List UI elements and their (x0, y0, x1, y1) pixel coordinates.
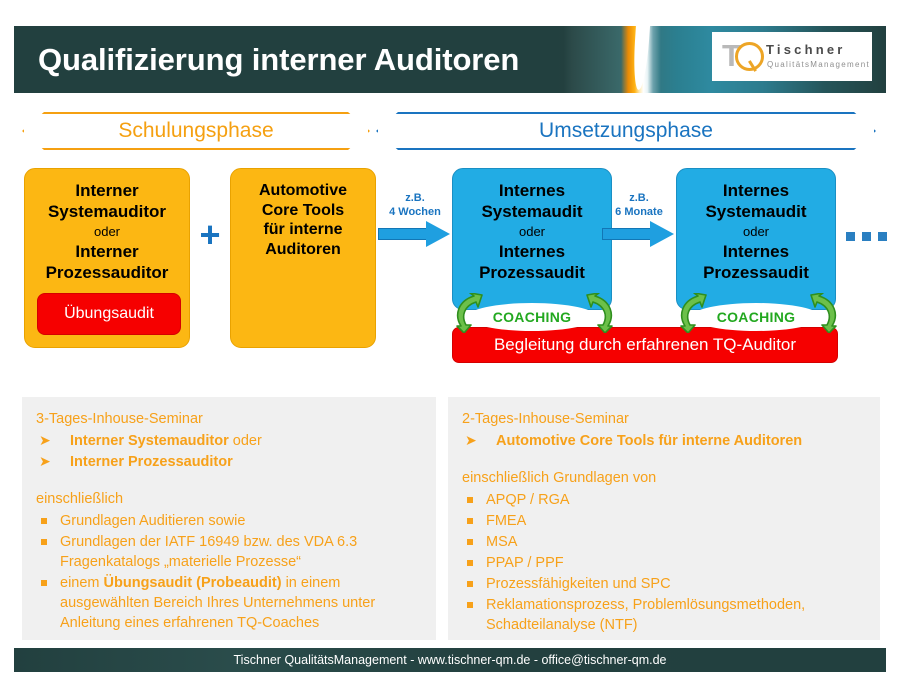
logo-company-subtitle: QualitätsManagement (767, 60, 870, 69)
flow-box-automotive-core-tools: Automotive Core Tools für interne Audito… (230, 168, 376, 348)
tq-monogram-icon: T (722, 36, 764, 76)
flow-box-connector: oder (453, 222, 611, 242)
panel-left-heading: 3-Tages-Inhouse-Seminar (36, 409, 422, 429)
list-item: PPAP / PPF (462, 553, 866, 573)
arrow-bullet-icon: ➤ (39, 431, 51, 450)
panel-left-subheading: einschließlich (36, 489, 422, 509)
coaching-label-2: COACHING (691, 303, 821, 331)
list-item: Grundlagen der IATF 16949 bzw. des VDA 6… (36, 532, 422, 572)
phase-banner-umsetzungsphase: Umsetzungsphase (376, 112, 876, 150)
flow-box-line4: Prozessaudit (453, 263, 611, 284)
arrow-bullet-icon: ➤ (465, 431, 477, 450)
badge-uebungsaudit: Übungsaudit (37, 293, 181, 335)
flow-box-line2: Systemauditor (25, 202, 189, 223)
square-bullet-icon (467, 539, 473, 545)
panel-left-arrow-list: ➤Interner Systemauditor oder ➤Interner P… (36, 431, 422, 472)
item-text: FMEA (486, 513, 526, 529)
list-item: FMEA (462, 511, 866, 531)
item-pre: einem (60, 575, 104, 591)
list-item: MSA (462, 532, 866, 552)
flow-box-interner-auditor: Interner Systemauditor oder Interner Pro… (24, 168, 190, 348)
square-bullet-icon (41, 580, 47, 586)
coaching-cycle-arrow-icon (583, 293, 617, 333)
square-bullet-icon (41, 518, 47, 524)
panel-right-subheading: einschließlich Grundlagen von (462, 468, 866, 488)
item-text: PPAP / PPF (486, 555, 564, 571)
logo-letter-q-ring (735, 42, 764, 71)
list-item: ➤Interner Systemauditor oder (36, 431, 422, 451)
arrow-bullet-icon: ➤ (39, 452, 51, 471)
arrow-label-line1: z.B. (375, 192, 455, 206)
list-item: Prozessfähigkeiten und SPC (462, 574, 866, 594)
item-bold: Übungsaudit (Probeaudit) (104, 575, 282, 591)
item-text: MSA (486, 534, 517, 550)
arrow-head (650, 221, 674, 247)
flow-box-line1: Interner (25, 181, 189, 202)
flow-box-line2: Core Tools (231, 201, 375, 221)
flow-box-line3: Internes (677, 242, 835, 263)
arrow-label-line2: 6 Monate (599, 206, 679, 220)
spacer (462, 452, 866, 468)
panel-left-items: Grundlagen Auditieren sowie Grundlagen d… (36, 511, 422, 633)
ellipsis-dots-icon (846, 232, 887, 241)
panel-right-items: APQP / RGA FMEA MSA PPAP / PPF Prozessfä… (462, 490, 866, 635)
item-bold: Interner Prozessauditor (70, 454, 233, 470)
list-item: Grundlagen Auditieren sowie (36, 511, 422, 531)
company-logo: T Tischner QualitätsManagement (712, 32, 872, 81)
flow-box-internes-audit-1: Internes Systemaudit oder Internes Proze… (452, 168, 612, 310)
arrow-head (426, 221, 450, 247)
item-text: Grundlagen Auditieren sowie (60, 513, 245, 529)
list-item: APQP / RGA (462, 490, 866, 510)
flow-box-connector: oder (677, 222, 835, 242)
decorative-flame-graphic (621, 26, 661, 93)
flow-box-connector: oder (25, 222, 189, 242)
dot (878, 232, 887, 241)
list-item: ➤Automotive Core Tools für interne Audit… (462, 431, 866, 451)
flow-box-line4: Prozessauditor (25, 263, 189, 284)
footer-bar: Tischner QualitätsManagement - www.tisch… (14, 648, 886, 672)
arrow-shaft (378, 228, 428, 240)
plus-icon: + (196, 222, 224, 250)
page-title: Qualifizierung interner Auditoren (38, 26, 519, 93)
flow-box-line1: Automotive (231, 181, 375, 201)
item-text: APQP / RGA (486, 492, 570, 508)
coaching-cycle-arrow-icon (807, 293, 841, 333)
square-bullet-icon (467, 518, 473, 524)
support-bar-tq-auditor: Begleitung durch erfahrenen TQ-Auditor (452, 327, 838, 363)
square-bullet-icon (41, 539, 47, 545)
square-bullet-icon (467, 497, 473, 503)
coaching-cycle-arrow-icon (676, 293, 710, 333)
square-bullet-icon (467, 602, 473, 608)
item-text: Reklamationsprozess, Problemlösungsmetho… (486, 597, 805, 633)
flow-arrow-2-icon (602, 222, 676, 246)
phase-banner-schulungsphase: Schulungsphase (22, 112, 370, 150)
flow-box-line2: Systemaudit (453, 202, 611, 223)
item-rest: oder (229, 433, 262, 449)
list-item: ➤Interner Prozessauditor (36, 452, 422, 472)
flow-arrow-1-icon (378, 222, 452, 246)
item-bold: Interner Systemauditor (70, 433, 229, 449)
flow-box-line1: Internes (453, 181, 611, 202)
item-bold: Automotive Core Tools für interne Audito… (496, 433, 802, 449)
flow-box-line3: für interne (231, 220, 375, 240)
dot (846, 232, 855, 241)
panel-right-heading: 2-Tages-Inhouse-Seminar (462, 409, 866, 429)
flow-box-line3: Interner (25, 242, 189, 263)
flow-box-line4: Prozessaudit (677, 263, 835, 284)
footer-text: Tischner QualitätsManagement - www.tisch… (234, 653, 667, 667)
flow-box-line3: Internes (453, 242, 611, 263)
flow-box-internes-audit-2: Internes Systemaudit oder Internes Proze… (676, 168, 836, 310)
flow-box-line4: Auditoren (231, 240, 375, 260)
dot (862, 232, 871, 241)
arrow-label-6-monate: z.B. 6 Monate (599, 192, 679, 220)
coaching-cycle-arrow-icon (452, 293, 486, 333)
flow-box-line2: Systemaudit (677, 202, 835, 223)
coaching-label-1: COACHING (467, 303, 597, 331)
list-item: Reklamationsprozess, Problemlösungsmetho… (462, 595, 866, 635)
panel-right-arrow-list: ➤Automotive Core Tools für interne Audit… (462, 431, 866, 451)
arrow-label-line1: z.B. (599, 192, 679, 206)
item-text: Prozessfähigkeiten und SPC (486, 576, 671, 592)
arrow-shaft (602, 228, 652, 240)
phase-label-umsetzungsphase: Umsetzungsphase (539, 119, 713, 143)
list-item: einem Übungsaudit (Probeaudit) in einem … (36, 573, 422, 633)
item-text: Grundlagen der IATF 16949 bzw. des VDA 6… (60, 534, 357, 570)
square-bullet-icon (467, 560, 473, 566)
spacer (36, 473, 422, 489)
panel-seminar-3-tage: 3-Tages-Inhouse-Seminar ➤Interner System… (22, 397, 436, 640)
panel-seminar-2-tage: 2-Tages-Inhouse-Seminar ➤Automotive Core… (448, 397, 880, 640)
phase-label-schulungsphase: Schulungsphase (118, 119, 273, 143)
arrow-label-line2: 4 Wochen (375, 206, 455, 220)
flow-box-line1: Internes (677, 181, 835, 202)
arrow-label-4-wochen: z.B. 4 Wochen (375, 192, 455, 220)
logo-company-name: Tischner (766, 42, 846, 57)
square-bullet-icon (467, 581, 473, 587)
